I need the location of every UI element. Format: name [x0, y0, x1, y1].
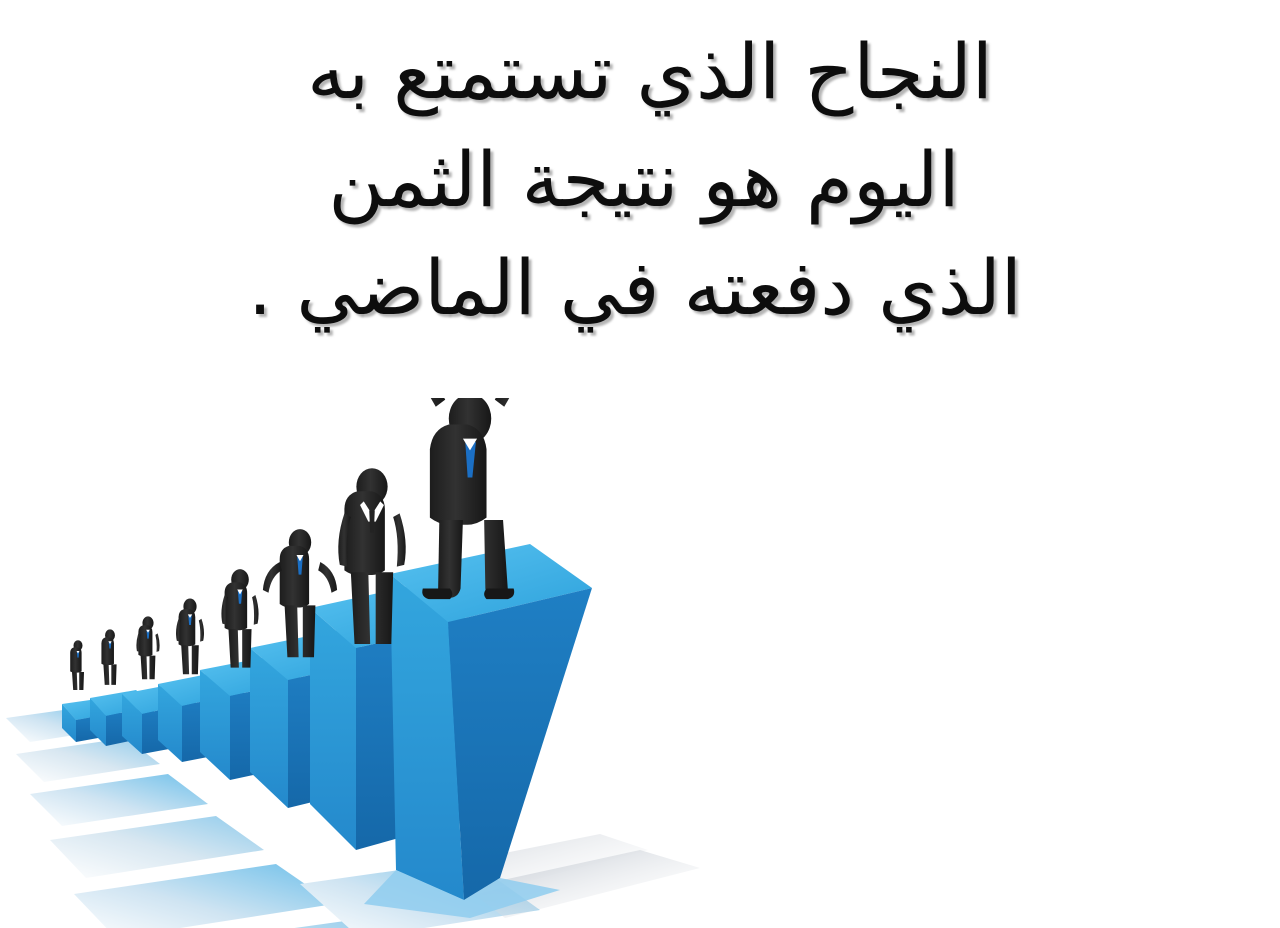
- businessman-figure: [101, 629, 116, 684]
- chart-svg: [0, 398, 760, 928]
- bar-chart-illustration: [0, 398, 760, 928]
- quote-text-block: النجاح الذي تستمتع به اليوم هو نتيجة الث…: [28, 18, 1248, 342]
- quote-line-2: اليوم هو نتيجة الثمن: [28, 126, 1248, 234]
- floor-panel: [30, 774, 208, 826]
- businessman-figure: [176, 599, 204, 675]
- poster-canvas: النجاح الذي تستمتع به اليوم هو نتيجة الث…: [0, 0, 1280, 928]
- floor-panel: [50, 816, 264, 878]
- businessman-figure: [70, 640, 84, 690]
- quote-line-3: الذي دفعته في الماضي .: [28, 234, 1248, 342]
- quote-line-1: النجاح الذي تستمتع به: [28, 18, 1248, 126]
- businessman-figure: [136, 616, 159, 679]
